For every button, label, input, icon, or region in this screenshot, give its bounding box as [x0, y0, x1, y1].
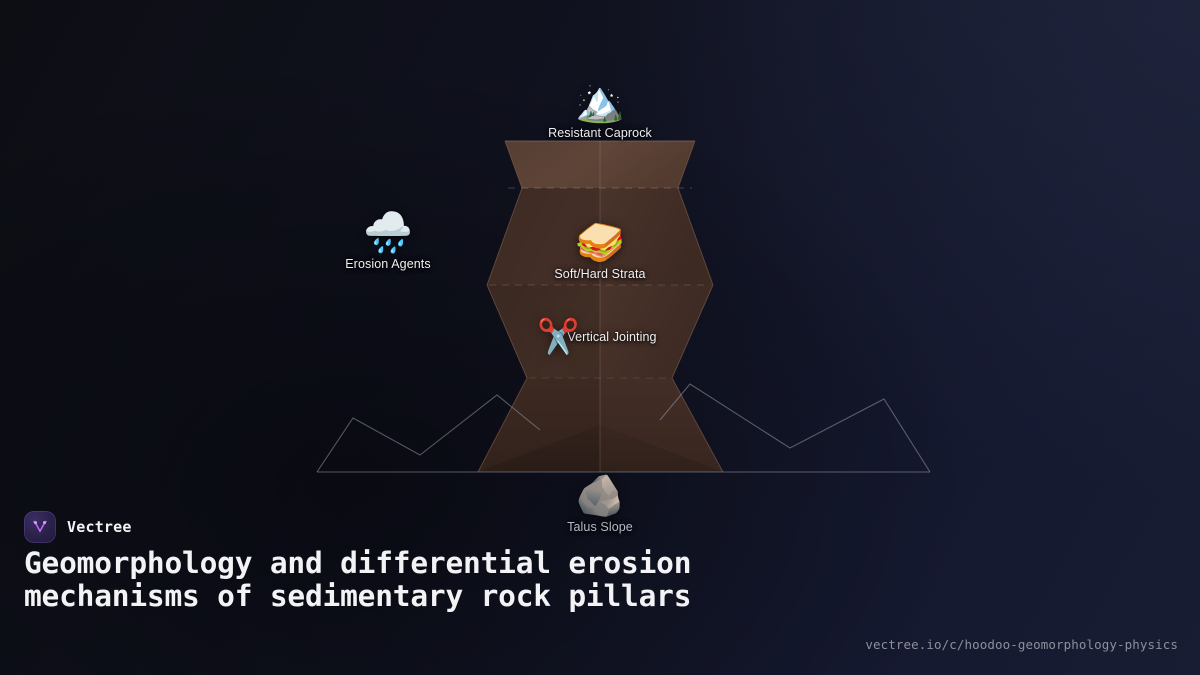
diagram-node-label: Soft/Hard Strata	[554, 267, 645, 281]
brand-lockup[interactable]: Vectree	[24, 511, 132, 543]
scissors-icon: ✂️	[537, 318, 579, 356]
rain-cloud-icon: 🌧️	[363, 211, 413, 255]
sandwich-icon: 🥪	[575, 221, 625, 265]
permalink-url: vectree.io/c/hoodoo-geomorphology-physic…	[865, 637, 1178, 652]
brand-name: Vectree	[67, 518, 132, 536]
diagram-node-label: Erosion Agents	[345, 257, 430, 271]
diagram-node-vertical-jointing[interactable]: ✂️ Vertical Jointing	[537, 318, 747, 356]
snow-capped-mountain-icon: 🏔️	[575, 80, 625, 124]
vectree-v-logo-icon	[24, 511, 56, 543]
diagram-node-resistant-caprock[interactable]: 🏔️ Resistant Caprock	[515, 80, 685, 140]
diagram-node-label: Vertical Jointing	[567, 330, 656, 344]
diagram-node-soft-hard-strata[interactable]: 🥪 Soft/Hard Strata	[515, 221, 685, 281]
footer-overlay: Vectree Geomorphology and differential e…	[0, 499, 1200, 675]
diagram-node-label: Resistant Caprock	[548, 126, 652, 140]
page-title: Geomorphology and differential erosion m…	[24, 547, 804, 612]
diagram-node-erosion-agents[interactable]: 🌧️ Erosion Agents	[303, 211, 473, 271]
